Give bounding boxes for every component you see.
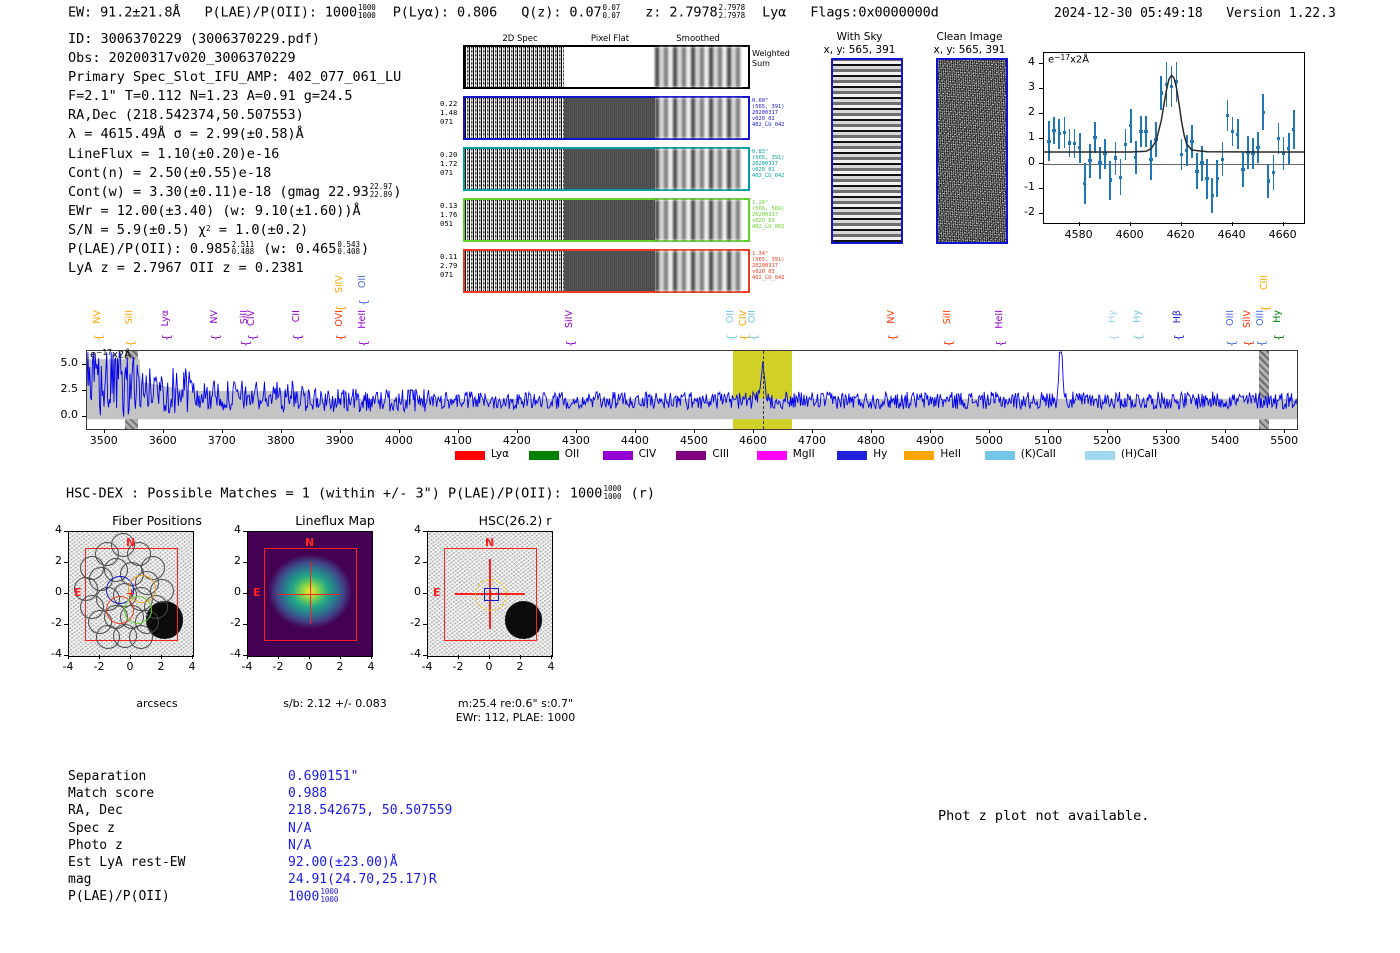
spectrum-xtick <box>1107 429 1108 433</box>
match-row-value: 92.00(±23.00)Å <box>288 854 398 871</box>
panel-ytick-label: 2 <box>217 554 241 567</box>
spectrum-xtick-label: 4900 <box>900 434 960 447</box>
spectrum-xtick-label: 4500 <box>664 434 724 447</box>
spectrum-xtick <box>104 429 105 433</box>
fiber-positions-image <box>68 531 194 657</box>
spectrum-xtick <box>871 429 872 433</box>
compass-north-label: N <box>126 536 135 549</box>
spectrum-units: e−17x2Å <box>90 349 131 361</box>
match-row-value: 0.690151" <box>288 768 358 785</box>
strip-2dspec-segment <box>465 149 564 189</box>
flux-point <box>1200 161 1203 164</box>
flux-point <box>1139 130 1142 133</box>
emission-line-bracket: { <box>564 340 577 347</box>
panel-xtick <box>309 655 310 659</box>
legend-swatch <box>1085 451 1115 460</box>
spectrum-ytick <box>82 364 86 365</box>
panel-xtick <box>130 655 131 659</box>
panel-xtick <box>247 655 248 659</box>
spectrum-xtick <box>989 429 990 433</box>
info-lambda-sigma: λ = 4615.49Å σ = 2.99(±0.58)Å <box>68 125 401 144</box>
flux-point <box>1180 153 1183 156</box>
emission-line-bracket: { <box>357 299 370 306</box>
panel-ytick-label: 4 <box>38 523 62 536</box>
spectrum-xtick <box>281 429 282 433</box>
panel-ytick <box>64 562 68 563</box>
strip-lead-values: 0.221.48071 <box>440 99 457 126</box>
spectrum-ytick <box>82 390 86 391</box>
header-plya: P(Lyα): 0.806 <box>393 5 497 21</box>
panel-ytick <box>243 655 247 656</box>
match-row-key: Match score <box>68 785 154 802</box>
strip-2dspec-segment <box>465 200 564 240</box>
panel-ytick <box>64 624 68 625</box>
emission-line-label: NV <box>886 310 897 324</box>
emission-line-bracket: { <box>886 334 899 341</box>
panel-xtick <box>161 655 162 659</box>
spectrum-trace <box>87 351 1297 429</box>
flux-point <box>1256 146 1259 149</box>
legend-label: MgII <box>793 448 815 460</box>
panel-xtick <box>340 655 341 659</box>
match-row-value: 218.542675, 50.507559 <box>288 802 452 819</box>
hsc-r-caption: m:25.4 re:0.6" s:0.7"EWr: 112, PLAE: 100… <box>418 697 613 725</box>
emission-line-label: SiIV <box>334 275 345 293</box>
fiber-positions-xlabel: arcsecs <box>62 697 252 711</box>
panel-ytick-label: -4 <box>397 647 421 660</box>
crosshair-h <box>278 594 340 595</box>
strip-smoothed-segment <box>655 200 743 240</box>
strip-pixelflat-segment <box>564 200 655 240</box>
spectrum-xtick <box>1284 429 1285 433</box>
panel-xtick <box>371 655 372 659</box>
flux-point <box>1103 152 1106 155</box>
flux-point <box>1205 177 1208 180</box>
spectrum-xtick-label: 5400 <box>1195 434 1255 447</box>
compass-north-label: N <box>485 536 494 549</box>
catalog-match-box <box>484 588 500 601</box>
line-fit-ytick <box>1039 163 1043 164</box>
weighted-sum-label: WeightedSum <box>752 49 790 69</box>
emission-line-bracket: { <box>1272 334 1285 341</box>
detection-marker-line <box>763 351 764 429</box>
line-fit-xtick-label: 4620 <box>1155 228 1207 241</box>
flux-point <box>1226 114 1229 117</box>
flux-point <box>1058 132 1061 135</box>
spectrum-xtick-label: 4800 <box>841 434 901 447</box>
info-cont-n: Cont(n) = 2.50(±0.55)e-18 <box>68 164 401 183</box>
emission-line-bracket: { <box>1225 340 1238 347</box>
emission-line-bracket: { <box>357 340 370 347</box>
panel-xtick <box>192 655 193 659</box>
info-radec: RA,Dec (218.542374,50.507553) <box>68 106 401 125</box>
panel-ytick <box>423 655 427 656</box>
strip-edge <box>742 200 748 240</box>
compass-east-label: E <box>253 586 261 599</box>
emission-line-label: OIII <box>1255 310 1266 326</box>
flux-point <box>1119 176 1122 179</box>
header-species: Lyα <box>762 5 786 21</box>
strip-smoothed-segment <box>655 98 743 138</box>
lineflux-map-image <box>247 531 373 657</box>
spectrum-xtick-label: 4700 <box>782 434 842 447</box>
spectrum-xtick <box>458 429 459 433</box>
emission-line-bracket: { <box>334 334 347 341</box>
spectrum-ytick-label: 0.0 <box>42 408 78 421</box>
spectrum-ytick-label: 5.0 <box>42 356 78 369</box>
flux-point <box>1267 179 1270 182</box>
spectrum-xtick <box>399 429 400 433</box>
panel-ytick <box>243 531 247 532</box>
flux-point <box>1231 130 1234 133</box>
legend-swatch <box>603 451 633 460</box>
hsc-r-image-image <box>427 531 553 657</box>
emission-line-bracket: { <box>246 334 259 341</box>
flux-point <box>1098 161 1101 164</box>
panel-ytick <box>423 593 427 594</box>
line-fit-ytick-label: -2 <box>1003 205 1035 218</box>
emission-line-label: SiII <box>942 310 953 324</box>
emission-line-bracket: { <box>92 334 105 341</box>
panel-ytick-label: -4 <box>217 647 241 660</box>
compass-east-label: E <box>74 586 82 599</box>
flux-point <box>1221 158 1224 161</box>
info-primary-spec: Primary Spec_Slot_IFU_AMP: 402_077_061_L… <box>68 68 401 87</box>
emission-line-bracket: { <box>942 340 955 347</box>
legend-label: Lyα <box>491 448 509 460</box>
emission-line-label: OII <box>357 275 368 288</box>
strip-edge <box>742 149 748 189</box>
flux-point <box>1241 168 1244 171</box>
flux-point <box>1160 91 1163 94</box>
legend-swatch <box>455 451 485 460</box>
flux-point <box>1272 171 1275 174</box>
strip-meta-values: 0.83"(565, 391)20200317v020_01402_LU_042 <box>752 149 784 179</box>
crosshair-v <box>310 562 311 624</box>
header-qz: Q(z): 0.07 <box>521 5 601 21</box>
strip-edge <box>742 98 748 138</box>
spectrum-xtick <box>812 429 813 433</box>
header-datetime: 2024-12-30 05:49:18 <box>1054 6 1203 21</box>
panel-ytick <box>243 593 247 594</box>
strip-meta-values: 0.60"(565, 391)20200317v020_02402_LU_042 <box>752 98 784 128</box>
emission-line-bracket: { <box>1172 334 1185 341</box>
legend-swatch <box>757 451 787 460</box>
with-sky-cutout <box>831 58 903 244</box>
match-row-value: 24.91(24.70,25.17)R <box>288 871 437 888</box>
strip-lead-values: 0.131.76051 <box>440 201 457 228</box>
spec-strip-row <box>463 198 750 242</box>
flux-point <box>1165 83 1168 86</box>
match-row-key: Separation <box>68 768 146 785</box>
spec-strip-row <box>463 96 750 140</box>
panel-ytick <box>64 531 68 532</box>
strip-edge <box>742 47 748 87</box>
spectrum-xtick-label: 3600 <box>133 434 193 447</box>
center-cross-v <box>131 589 132 596</box>
emission-line-bracket: { <box>1255 340 1268 347</box>
emission-line-label: HeII <box>994 310 1005 329</box>
line-fit-ytick <box>1039 188 1043 189</box>
line-fit-ytick-label: 3 <box>1003 80 1035 93</box>
spectrum-xtick <box>222 429 223 433</box>
spectrum-xtick-label: 5000 <box>959 434 1019 447</box>
cutout-label-clean-image: Clean Imagex, y: 565, 391 <box>917 31 1022 57</box>
panel-xtick <box>520 655 521 659</box>
panel-xtick <box>99 655 100 659</box>
panel-ytick <box>423 624 427 625</box>
info-plae: P(LAE)/P(OII): 0.9852.5110.488 (w: 0.465… <box>68 240 401 259</box>
line-fit-ytick-label: 4 <box>1003 55 1035 68</box>
flux-point <box>1175 80 1178 83</box>
match-row-key: RA, Dec <box>68 802 123 819</box>
spectrum-xtick <box>340 429 341 433</box>
emission-line-label: Hβ <box>1172 310 1183 323</box>
panel-ytick-label: 4 <box>217 523 241 536</box>
panel-xtick-label: 4 <box>172 660 212 673</box>
spec-strip-row <box>463 249 750 293</box>
flux-point <box>1068 141 1071 144</box>
line-fit-xtick <box>1283 222 1284 226</box>
match-row-value: 0.988 <box>288 785 327 802</box>
emission-line-bracket: { <box>334 305 347 312</box>
flux-point <box>1251 151 1254 154</box>
flux-point <box>1073 142 1076 145</box>
emission-line-label: OII <box>725 310 736 323</box>
spectrum-xtick <box>163 429 164 433</box>
header-ew: EW: 91.2±21.8Å <box>68 5 180 21</box>
flux-point <box>1195 170 1198 173</box>
header-timestamp-version: 2024-12-30 05:49:18 Version 1.22.3 <box>1054 6 1336 21</box>
legend-swatch <box>529 451 559 460</box>
panel-ytick <box>243 624 247 625</box>
line-fit-units: e−17x2Å <box>1048 54 1089 66</box>
legend-label: Hy <box>873 448 887 460</box>
strip-pixelflat-segment <box>564 98 655 138</box>
spectrum-xtick <box>930 429 931 433</box>
panel-xtick-label: 4 <box>351 660 391 673</box>
line-fit-xtick-label: 4660 <box>1257 228 1309 241</box>
flux-point <box>1144 130 1147 133</box>
match-row-key: Photo z <box>68 837 123 854</box>
header-version: Version 1.22.3 <box>1226 6 1336 21</box>
flux-point <box>1287 147 1290 150</box>
match-row-key: P(LAE)/P(OII) <box>68 888 170 905</box>
info-seeing: F=2.1" T=0.112 N=1.23 A=0.91 g=24.5 <box>68 87 401 106</box>
legend-label: (K)CaII <box>1021 448 1056 460</box>
line-fit-plot: e−17x2Å <box>1043 52 1305 224</box>
line-fit-ytick <box>1039 113 1043 114</box>
strip-smoothed-segment <box>655 149 743 189</box>
line-fit-ytick-label: -1 <box>1003 180 1035 193</box>
strip-2dspec-segment <box>465 47 564 87</box>
flux-point <box>1052 129 1055 132</box>
emission-line-bracket: { <box>124 340 137 347</box>
photoz-unavailable-message: Phot z plot not available. <box>938 808 1149 824</box>
spectrum-xtick <box>1048 429 1049 433</box>
spectrum-xtick-label: 3500 <box>74 434 134 447</box>
spectrum-xtick-label: 5200 <box>1077 434 1137 447</box>
panel-title-hsc-r: HSC(26.2) r <box>420 513 610 528</box>
emission-line-bracket: { <box>1107 334 1120 341</box>
flux-point <box>1282 152 1285 155</box>
flux-point <box>1246 151 1249 154</box>
flux-point <box>1236 133 1239 136</box>
spectrum-xtick-label: 5100 <box>1018 434 1078 447</box>
header-summary-line: EW: 91.2±21.8Å P(LAE)/P(OII): 1000100010… <box>68 4 939 21</box>
emission-line-label: OII <box>747 310 758 323</box>
panel-xtick <box>278 655 279 659</box>
spectrum-xtick-label: 4200 <box>487 434 547 447</box>
panel-ytick-label: 2 <box>397 554 421 567</box>
header-flags: Flags:0x0000000d <box>810 5 938 21</box>
info-cont-w: Cont(w) = 3.30(±0.11)e-18 (gmag 22.9322.… <box>68 183 401 202</box>
strip-smoothed-segment <box>655 251 743 291</box>
panel-ytick-label: -4 <box>38 647 62 660</box>
legend-label: OII <box>565 448 579 460</box>
panel-ytick-label: 0 <box>397 585 421 598</box>
header-plae-bounds: 10001000 <box>358 4 376 19</box>
emission-line-label: Hy <box>1132 310 1143 323</box>
spectrum-xtick <box>1166 429 1167 433</box>
panel-ytick <box>64 655 68 656</box>
full-spectrum-plot: e−17x2Å <box>86 350 1298 430</box>
flux-point <box>1190 140 1193 143</box>
spectrum-xtick-label: 4100 <box>428 434 488 447</box>
lineflux-map-caption: s/b: 2.12 +/- 0.083 <box>240 697 430 711</box>
spec-strip-row <box>463 147 750 191</box>
legend-label: (H)CaII <box>1121 448 1157 460</box>
match-row-value: N/A <box>288 837 311 854</box>
strip-title-smoothed: Smoothed <box>658 34 738 44</box>
panel-ytick <box>423 562 427 563</box>
header-z: z: 2.7978 <box>645 5 717 21</box>
flux-point <box>1134 156 1137 159</box>
spectrum-xtick <box>694 429 695 433</box>
emission-line-bracket: { <box>1132 334 1145 341</box>
match-row-key: mag <box>68 871 91 888</box>
emission-line-bracket: { <box>160 334 173 341</box>
flux-point <box>1114 156 1117 159</box>
header-qz-bounds: 0.070.07 <box>603 4 621 19</box>
legend-label: HeII <box>940 448 961 460</box>
emission-line-bracket: { <box>725 334 738 341</box>
emission-line-label: NV <box>209 310 220 324</box>
line-fit-xtick <box>1079 222 1080 226</box>
line-fit-xtick-label: 4600 <box>1104 228 1156 241</box>
flux-point <box>1088 159 1091 162</box>
header-z-bounds: 2.79782.7978 <box>719 4 746 19</box>
compass-north-label: N <box>305 536 314 549</box>
spectrum-xtick-label: 4000 <box>369 434 429 447</box>
panel-ytick-label: 0 <box>217 585 241 598</box>
flux-point <box>1154 138 1157 141</box>
flux-point <box>1292 128 1295 131</box>
info-lineflux: LineFlux = 1.10(±0.20)e-16 <box>68 145 401 164</box>
spectrum-xtick-label: 4600 <box>723 434 783 447</box>
panel-ytick-label: 4 <box>397 523 421 536</box>
strip-edge <box>742 251 748 291</box>
legend-label: CIII <box>712 448 729 460</box>
flux-point <box>1109 178 1112 181</box>
line-fit-ytick <box>1039 63 1043 64</box>
spectrum-xtick-label: 3900 <box>310 434 370 447</box>
emission-line-bracket: { <box>209 334 222 341</box>
panel-ytick-label: -2 <box>38 616 62 629</box>
strip-smoothed-segment <box>655 47 743 87</box>
line-fit-ytick-label: 1 <box>1003 130 1035 143</box>
emission-line-bracket: { <box>291 334 304 341</box>
emission-line-label: Hy <box>1272 310 1283 323</box>
line-fit-xtick <box>1181 222 1182 226</box>
spectrum-xtick-label: 3700 <box>192 434 252 447</box>
info-redshifts: LyA z = 2.7967 OII z = 0.2381 <box>68 259 401 278</box>
spectrum-xtick <box>635 429 636 433</box>
panel-ytick-label: 0 <box>38 585 62 598</box>
spectrum-xtick-label: 4300 <box>546 434 606 447</box>
panel-ytick <box>423 531 427 532</box>
panel-ytick-label: -2 <box>217 616 241 629</box>
emission-line-label: CIII <box>1259 275 1270 290</box>
legend-swatch <box>985 451 1015 460</box>
match-row-key: Est LyA rest-EW <box>68 854 185 871</box>
flux-point <box>1211 194 1214 197</box>
strip-meta-values: 1.20"(566, 566)20200317v020_03402_LU_062 <box>752 200 784 230</box>
legend-label: CIV <box>639 448 657 460</box>
spectrum-ytick-label: 2.5 <box>42 382 78 395</box>
flux-point <box>1093 136 1096 139</box>
info-snr-chi2: S/N = 5.9(±0.5) χ2 = 1.0(±0.2) <box>68 221 401 240</box>
spectrum-xtick <box>576 429 577 433</box>
panel-ytick-label: 2 <box>38 554 62 567</box>
hscdex-headline: HSC-DEX : Possible Matches = 1 (within +… <box>66 485 655 502</box>
flux-point <box>1262 111 1265 114</box>
panel-ytick-label: -2 <box>397 616 421 629</box>
flux-point <box>1149 158 1152 161</box>
spectrum-xtick-label: 4400 <box>605 434 665 447</box>
strip-pixelflat-segment <box>564 149 655 189</box>
flux-point <box>1170 85 1173 88</box>
spectrum-ytick <box>82 416 86 417</box>
spectrum-xtick <box>517 429 518 433</box>
emission-line-label: OIII <box>1225 310 1236 326</box>
line-fit-xtick <box>1232 222 1233 226</box>
line-fit-ytick-label: 2 <box>1003 105 1035 118</box>
emission-line-bracket: { <box>994 340 1007 347</box>
strip-title-2dspec: 2D Spec <box>480 34 560 44</box>
strip-pixelflat-segment <box>564 47 655 87</box>
spec-strip-row <box>463 45 750 89</box>
flux-point <box>1083 182 1086 185</box>
panel-xtick <box>551 655 552 659</box>
header-plae-label: P(LAE)/P(OII): 1000 <box>204 5 357 21</box>
flux-point <box>1277 137 1280 140</box>
flux-point <box>1063 131 1066 134</box>
strip-meta-values: 1.34"(565, 391)20200317v020_03402_LU_042 <box>752 251 784 281</box>
line-fit-xtick-label: 4580 <box>1053 228 1105 241</box>
strip-pixelflat-segment <box>564 251 655 291</box>
flux-point <box>1129 124 1132 127</box>
legend-swatch <box>676 451 706 460</box>
emission-line-label: HeII <box>357 310 368 329</box>
emission-line-label: SiIV <box>1242 310 1253 328</box>
match-row-value: N/A <box>288 820 311 837</box>
flux-point <box>1185 149 1188 152</box>
spectrum-xtick-label: 5500 <box>1254 434 1314 447</box>
emission-line-label: CIV <box>246 310 257 326</box>
emission-line-bracket: { <box>239 340 252 347</box>
emission-line-label: SiIV <box>564 310 575 328</box>
